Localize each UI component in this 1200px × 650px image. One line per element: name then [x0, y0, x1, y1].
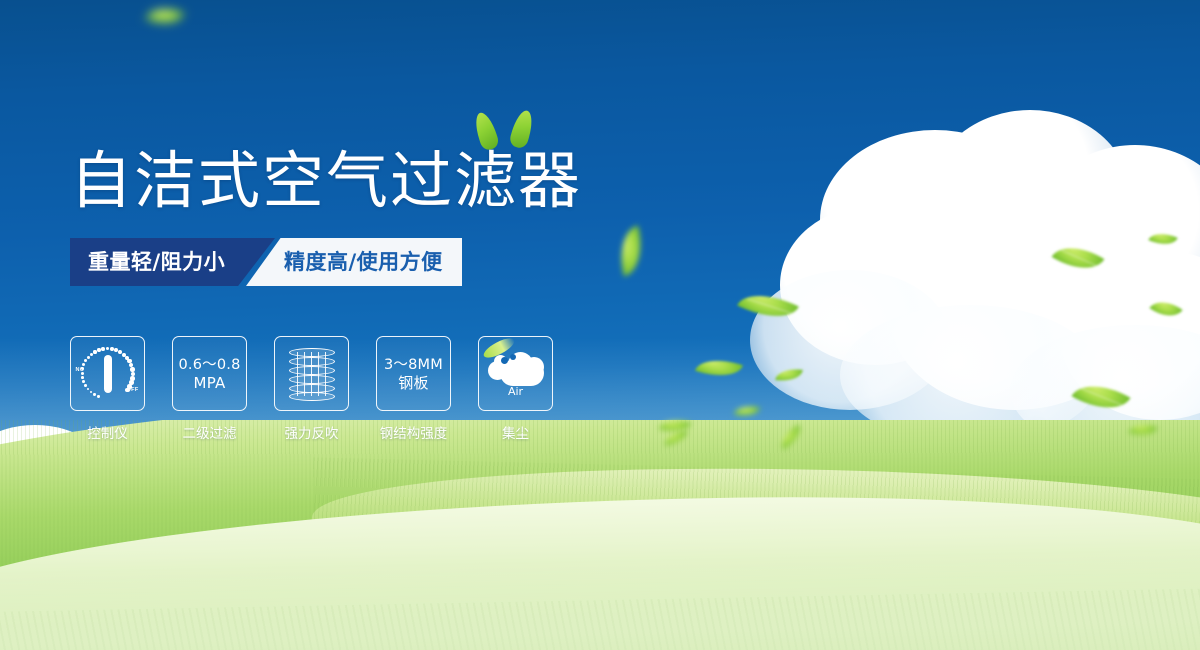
gauge-tick: [93, 350, 96, 353]
feature-icon-box: NO OFF: [70, 336, 145, 411]
feature-icon-box: 0.6～0.8 MPA: [172, 336, 247, 411]
feature-icon-box: Air: [478, 336, 553, 411]
gauge-tick: [93, 393, 95, 395]
tagline-right-text: 精度高/使用方便: [284, 238, 443, 286]
page-title: 自洁式空气过滤器: [70, 146, 582, 216]
gauge-tick: [101, 347, 105, 351]
gauge-tick: [97, 395, 99, 397]
feature-icon-box: [274, 336, 349, 411]
gauge-tick: [87, 356, 90, 359]
gauge-tick: [84, 384, 87, 387]
tagline-group: 重量轻/阻力小 精度高/使用方便: [70, 238, 462, 286]
feature-label: 控制仪: [87, 422, 128, 442]
pressure-line-2: MPA: [178, 374, 240, 392]
steel-text-icon: 3～8MM 钢板: [384, 356, 443, 392]
feature-label: 集尘: [502, 422, 529, 442]
gauge-tick: [81, 372, 84, 375]
air-cloud-icon: Air: [488, 352, 544, 396]
feature-item[interactable]: NO OFF 控制仪: [70, 336, 145, 442]
gauge-tick: [81, 376, 84, 379]
tagline-left-text: 重量轻/阻力小: [88, 238, 225, 286]
feature-item[interactable]: Air 集尘: [478, 336, 553, 442]
filter-stack-icon: [289, 348, 335, 400]
gauge-tick: [106, 347, 110, 351]
gauge-tick: [97, 348, 100, 351]
gauge-tick: [82, 380, 85, 383]
hero-banner: 自洁式空气过滤器 重量轻/阻力小 精度高/使用方便 NO OFF 控制仪: [0, 0, 1200, 650]
feature-item[interactable]: 0.6～0.8 MPA 二级过滤: [172, 336, 247, 442]
pressure-line-1: 0.6～0.8: [178, 356, 240, 374]
gauge-tick: [110, 347, 114, 351]
feature-label: 二级过滤: [183, 422, 237, 442]
gauge-tick: [84, 359, 87, 362]
air-caption: Air: [488, 385, 544, 398]
gauge-icon: NO OFF: [77, 343, 139, 405]
feature-item[interactable]: 3～8MM 钢板 钢结构强度: [376, 336, 451, 442]
gauge-tick: [87, 388, 90, 391]
feature-label: 钢结构强度: [380, 422, 448, 442]
feature-list: NO OFF 控制仪 0.6～0.8 MPA 二级过滤: [70, 336, 553, 442]
gauge-tick: [125, 388, 130, 393]
feature-icon-box: 3～8MM 钢板: [376, 336, 451, 411]
steel-line-1: 3～8MM: [384, 356, 443, 374]
gauge-tick: [82, 363, 85, 366]
feature-item[interactable]: 强力反吹: [274, 336, 349, 442]
gauge-tick: [90, 391, 93, 394]
steel-line-2: 钢板: [384, 374, 443, 392]
feature-label: 强力反吹: [285, 422, 339, 442]
pressure-text-icon: 0.6～0.8 MPA: [178, 356, 240, 392]
